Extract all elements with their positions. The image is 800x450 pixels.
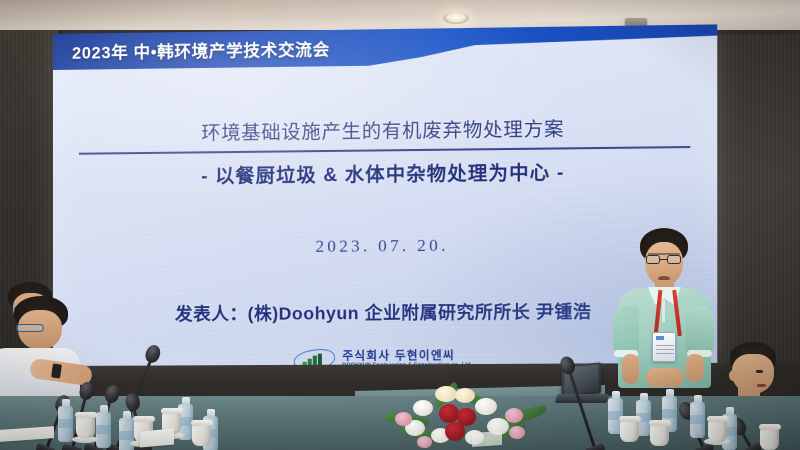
water-bottle — [690, 402, 705, 438]
paper-cup — [620, 420, 639, 442]
slide-title-block: 环境基础设施产生的有机废弃物处理方案 - 以餐厨垃圾 & 水体中杂物处理为中心 … — [53, 112, 717, 190]
presenter-forearm-right — [686, 354, 704, 382]
seated-mouth — [757, 384, 766, 387]
paper-cup — [760, 428, 779, 450]
presenter-standing — [612, 228, 716, 388]
photo-stage: 2023年 中•韩环境产学技术交流会 环境基础设施产生的有机废弃物处理方案 - … — [0, 0, 800, 450]
paper-cup — [192, 424, 211, 446]
seated-ear — [729, 370, 737, 381]
company-logo-text: 주식회사 두현이엔씨 DOOHYUN Engineering & Constru… — [342, 350, 470, 366]
paper-cup — [708, 420, 727, 442]
recessed-ceiling-light-icon — [443, 12, 469, 24]
presenter-clasped-hands — [646, 368, 684, 387]
water-bottle — [96, 412, 111, 448]
wristwatch-icon — [51, 363, 62, 378]
seated-eye — [756, 370, 763, 373]
water-bottle — [58, 406, 73, 442]
flower-arrangement — [383, 384, 555, 448]
chart-bars-swoosh-icon — [294, 349, 336, 366]
title-divider — [79, 146, 690, 155]
presenter-placket — [662, 300, 665, 322]
name-badge — [652, 332, 676, 362]
company-name-korean: 주식회사 두현이엔씨 — [342, 350, 470, 363]
slide-title-main: 环境基础设施产生的有机废弃物处理方案 — [53, 112, 717, 147]
nameplate — [472, 431, 502, 447]
paper-cup — [76, 416, 95, 438]
eyeglasses-icon — [16, 324, 44, 332]
presenter-forearm-left — [622, 354, 639, 384]
slide-banner-text: 2023年 中•韩环境产学技术交流会 — [72, 36, 330, 64]
nameplate — [140, 429, 174, 448]
paper-cup — [650, 424, 669, 446]
slide-title-subtitle: - 以餐厨垃圾 & 水体中杂物处理为中心 - — [53, 156, 717, 190]
eyeglasses-icon — [645, 255, 683, 264]
